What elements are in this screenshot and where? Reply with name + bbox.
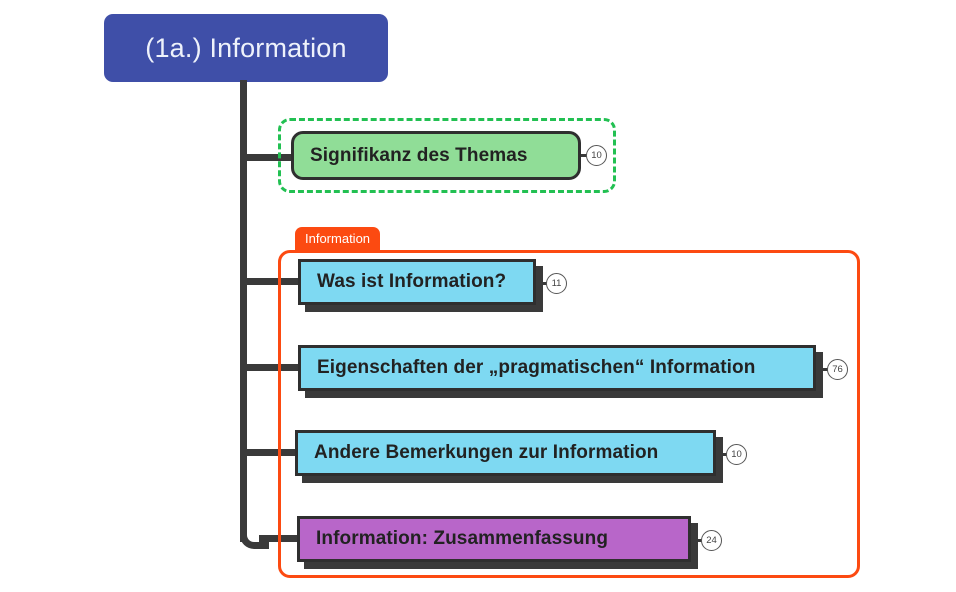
connector-trunk-elbow (240, 515, 269, 549)
topic-node-andere-bemerkungen[interactable]: Andere Bemerkungen zur Information (295, 430, 716, 476)
topic-node-was-ist-information[interactable]: Was ist Information? (298, 259, 536, 305)
connector-trunk (240, 80, 247, 542)
topic-node-zusammenfassung[interactable]: Information: Zusammenfassung (297, 516, 691, 562)
badge-value: 76 (832, 364, 843, 375)
topic-label: Was ist Information? (317, 271, 506, 293)
badge-count-zusammenfassung[interactable]: 24 (701, 530, 722, 551)
topic-node-signifikanz[interactable]: Signifikanz des Themas (291, 131, 581, 180)
root-node[interactable]: (1a.) Information (104, 14, 388, 82)
topic-label: Information: Zusammenfassung (316, 528, 608, 550)
topic-label: Signifikanz des Themas (310, 145, 528, 167)
badge-value: 24 (706, 535, 717, 546)
badge-value: 10 (731, 449, 742, 460)
root-node-label: (1a.) Information (145, 33, 346, 64)
badge-value: 11 (552, 278, 562, 289)
badge-count-eigenschaften[interactable]: 76 (827, 359, 848, 380)
group-tab-information[interactable]: Information (295, 227, 380, 251)
topic-label: Eigenschaften der „pragmatischen“ Inform… (317, 357, 755, 379)
topic-label: Andere Bemerkungen zur Information (314, 442, 658, 464)
badge-value: 10 (591, 150, 602, 161)
badge-count-signifikanz[interactable]: 10 (586, 145, 607, 166)
badge-count-andere-bemerkungen[interactable]: 10 (726, 444, 747, 465)
topic-node-eigenschaften[interactable]: Eigenschaften der „pragmatischen“ Inform… (298, 345, 816, 391)
group-tab-label: Information (305, 231, 370, 246)
mindmap-canvas: (1a.) Information Signifikanz des Themas… (0, 0, 956, 592)
badge-count-was-ist-information[interactable]: 11 (546, 273, 567, 294)
